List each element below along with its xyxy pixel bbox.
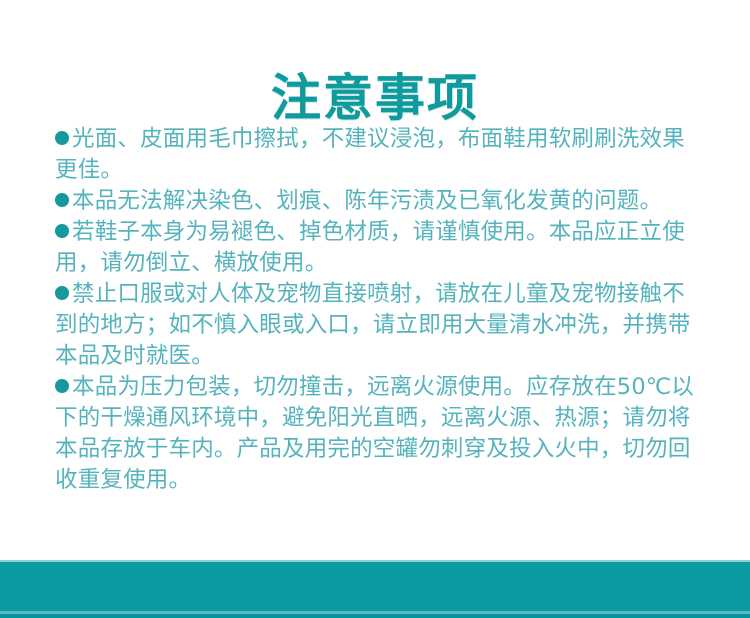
list-item-text: 本品无法解决染色、划痕、陈年污渍及已氧化发黄的问题。	[72, 188, 662, 214]
footer-bar	[0, 560, 750, 618]
page-title: 注意事项	[271, 70, 479, 126]
bullet-circle-icon	[55, 224, 69, 238]
footer-bar-foot	[0, 614, 750, 618]
bullet-circle-icon	[55, 193, 69, 207]
bullet-circle-icon	[55, 131, 69, 145]
product-notice-page: 注意事项 光面、皮面用毛巾擦拭，不建议浸泡，布面鞋用软刷刷洗效果更佳。 本品无法…	[0, 0, 750, 618]
list-item-text: 若鞋子本身为易褪色、掉色材质，请谨慎使用。本品应正立使用，请勿倒立、横放使用。	[55, 219, 685, 276]
list-item-text: 光面、皮面用毛巾擦拭，不建议浸泡，布面鞋用软刷刷洗效果更佳。	[55, 126, 685, 183]
notice-list: 光面、皮面用毛巾擦拭，不建议浸泡，布面鞋用软刷刷洗效果更佳。 本品无法解决染色、…	[55, 124, 695, 496]
bullet-circle-icon	[55, 286, 69, 300]
list-item: 光面、皮面用毛巾擦拭，不建议浸泡，布面鞋用软刷刷洗效果更佳。	[55, 124, 695, 186]
list-item-text: 本品为压力包装，切勿撞击，远离火源使用。应存放在50℃以下的干燥通风环境中，避免…	[55, 374, 694, 493]
footer-bar-inner	[0, 562, 750, 611]
list-item: 若鞋子本身为易褪色、掉色材质，请谨慎使用。本品应正立使用，请勿倒立、横放使用。	[55, 217, 695, 279]
list-item: 本品无法解决染色、划痕、陈年污渍及已氧化发黄的问题。	[55, 186, 695, 217]
list-item-text: 禁止口服或对人体及宠物直接喷射，请放在儿童及宠物接触不到的地方；如不慎入眼或入口…	[55, 281, 691, 369]
bullet-circle-icon	[55, 379, 69, 393]
list-item: 本品为压力包装，切勿撞击，远离火源使用。应存放在50℃以下的干燥通风环境中，避免…	[55, 372, 695, 496]
list-item: 禁止口服或对人体及宠物直接喷射，请放在儿童及宠物接触不到的地方；如不慎入眼或入口…	[55, 279, 695, 372]
